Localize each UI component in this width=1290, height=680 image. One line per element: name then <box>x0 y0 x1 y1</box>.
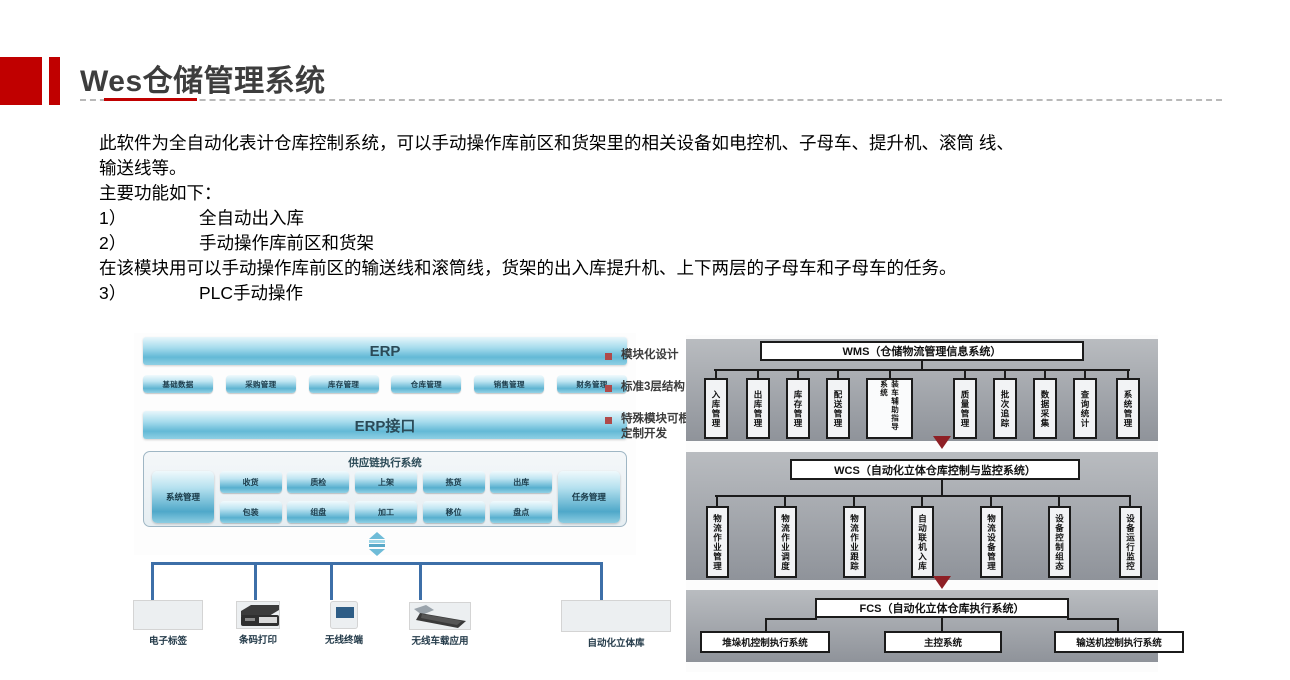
device-item-automated-warehouse: 自动化立体库 <box>546 600 686 649</box>
erp-module-4: 销售管理 <box>474 375 544 393</box>
wms-leaf-5: 质量管理 <box>953 378 977 439</box>
wms-leaf-0: 入库管理 <box>704 378 728 439</box>
feature-item-1: 1）全自动出入库 <box>99 206 1249 231</box>
square-bullet-icon <box>605 353 612 360</box>
wcs-header-drop <box>941 480 943 496</box>
scm-system-management: 系统管理 <box>152 471 214 523</box>
tree-branch-0 <box>151 562 154 600</box>
wms-leaf-3: 配送管理 <box>826 378 850 439</box>
automated-warehouse-thumbnail <box>561 600 671 632</box>
supply-chain-title: 供应链执行系统 <box>144 455 626 470</box>
wms-header-drop <box>921 361 923 370</box>
wms-panel: WMS（仓储物流管理信息系统） 入库管理 出库管理 库存管理 配送管理 装车辅助… <box>686 339 1158 441</box>
scm-cell-inspection: 质检 <box>287 471 349 493</box>
tree-branch-3 <box>419 562 422 600</box>
erp-module-row: 基础数据 采购管理 库存管理 仓库管理 销售管理 财务管理 <box>143 375 627 397</box>
fcs-leaf-0: 堆垛机控制执行系统 <box>700 631 830 653</box>
scm-cell-palletizing: 组盘 <box>287 501 349 523</box>
wms-right-riser <box>1082 341 1084 361</box>
wcs-bus <box>715 495 1131 497</box>
device-item-electronic-tag: 电子标签 <box>116 600 220 647</box>
description-block: 此软件为全自动化表计仓库控制系统，可以手动操作库前区和货架里的相关设备如电控机、… <box>99 131 1249 306</box>
bullet-label-1: 标准3层结构 <box>621 380 685 395</box>
square-bullet-icon <box>605 417 612 424</box>
wcs-leaf-3: 自动联机入库 <box>911 506 934 578</box>
wcs-leaf-4: 物流设备管理 <box>980 506 1003 578</box>
erp-module-0: 基础数据 <box>143 375 213 393</box>
features-intro: 主要功能如下： <box>99 181 1249 206</box>
scm-column-3: 拣货 移位 <box>423 471 485 523</box>
feature-item-3-label: PLC手动操作 <box>199 283 303 303</box>
wms-left-riser <box>760 341 762 361</box>
fcs-panel: FCS（自动化立体仓库执行系统） 堆垛机控制执行系统 主控系统 输送机控制执行系… <box>686 590 1158 662</box>
slide-header: Wes仓储管理系统 <box>0 0 1290 112</box>
wcs-leaf-5: 设备控制组态 <box>1048 506 1071 578</box>
device-label-0: 电子标签 <box>116 633 220 647</box>
scm-column-1: 质检 组盘 <box>287 471 349 523</box>
scm-column-0: 收货 包装 <box>220 471 282 523</box>
page-title: Wes仓储管理系统 <box>80 56 326 100</box>
feature-item-2: 2）手动操作库前区和货架 <box>99 231 1249 256</box>
tree-branch-1 <box>254 562 257 600</box>
accent-block-large <box>0 57 42 105</box>
wms-wcs-fcs-diagram: WMS（仓储物流管理信息系统） 入库管理 出库管理 库存管理 配送管理 装车辅助… <box>686 335 1158 672</box>
wcs-leaf-2: 物流作业跟踪 <box>843 506 866 578</box>
scm-cell-putaway: 上架 <box>355 471 417 493</box>
wcs-leaf-1: 物流作业调度 <box>774 506 797 578</box>
fcs-header: FCS（自动化立体仓库执行系统） <box>815 598 1069 618</box>
feature-item-1-label: 全自动出入库 <box>199 208 304 228</box>
wcs-leaf-6: 设备运行监控 <box>1119 506 1142 578</box>
fcs-left-riser <box>765 618 767 632</box>
paragraph-intro: 此软件为全自动化表计仓库控制系统，可以手动操作库前区和货架里的相关设备如电控机、… <box>99 131 1249 156</box>
feature-item-2-label: 手动操作库前区和货架 <box>199 233 374 253</box>
feature-item-3-number: 3） <box>99 281 199 306</box>
wireless-terminal-thumbnail <box>330 601 358 629</box>
tree-horizontal-line <box>151 562 603 565</box>
feature-item-2-number: 2） <box>99 231 199 256</box>
fcs-leaf-2: 输送机控制执行系统 <box>1054 631 1184 653</box>
up-down-arrow-icon <box>362 531 392 557</box>
wms-leaf-9: 系统管理 <box>1116 378 1140 439</box>
wcs-header: WCS（自动化立体仓库控制与监控系统） <box>790 459 1080 480</box>
scm-cell-processing: 加工 <box>355 501 417 523</box>
device-item-barcode-printer: 条码打印 <box>216 601 300 646</box>
device-label-3: 无线车载应用 <box>385 633 495 647</box>
fcs-leaf-1: 主控系统 <box>884 631 1002 653</box>
title-divider <box>80 99 1222 101</box>
scm-cell-stocktake: 盘点 <box>490 501 552 523</box>
device-label-1: 条码打印 <box>216 632 300 646</box>
wms-leaf-1: 出库管理 <box>746 378 770 439</box>
title-divider-accent <box>104 98 197 101</box>
scm-column-2: 上架 加工 <box>355 471 417 523</box>
fcs-left-arm <box>765 618 817 620</box>
tree-branch-4 <box>600 562 603 600</box>
device-label-2: 无线终端 <box>302 632 386 646</box>
scm-column-4: 出库 盘点 <box>490 471 552 523</box>
tree-branch-2 <box>330 562 333 600</box>
device-label-4: 自动化立体库 <box>546 635 686 649</box>
fcs-right-arm <box>1067 618 1119 620</box>
erp-layer-bar: ERP <box>143 337 627 365</box>
wms-leaf-8: 查询统计 <box>1073 378 1097 439</box>
supply-chain-execution-panel: 供应链执行系统 系统管理 收货 包装 质检 组盘 上架 加工 拣货 移位 出库 … <box>143 451 627 527</box>
wms-leaf-7: 数据采集 <box>1033 378 1057 439</box>
wms-leaf-6: 批次追踪 <box>993 378 1017 439</box>
down-arrow-icon-wcs-to-fcs <box>933 576 951 589</box>
wms-header: WMS（仓储物流管理信息系统） <box>760 341 1084 361</box>
feature-item-1-number: 1） <box>99 206 199 231</box>
scm-cell-outbound: 出库 <box>490 471 552 493</box>
supply-chain-grid: 系统管理 收货 包装 质检 组盘 上架 加工 拣货 移位 出库 盘点 任务管理 <box>152 471 620 523</box>
bullet-label-0: 模块化设计 <box>621 348 679 363</box>
feature-item-2-note: 在该模块用可以手动操作库前区的输送线和滚筒线，货架的出入库提升机、上下两层的子母… <box>99 256 1249 281</box>
paragraph-line-1: 此软件为全自动化表计仓库控制系统，可以手动操作库前区和货架里的相关设备如电控机、… <box>99 133 1014 153</box>
square-bullet-icon <box>605 385 612 392</box>
barcode-printer-thumbnail <box>236 601 280 629</box>
device-item-wireless-terminal: 无线终端 <box>302 601 386 646</box>
accent-block-small <box>49 57 60 105</box>
electronic-tag-thumbnail <box>133 600 203 630</box>
erp-architecture-diagram: ERP 基础数据 采购管理 库存管理 仓库管理 销售管理 财务管理 ERP接口 … <box>134 333 636 555</box>
wms-leaf-4: 装车辅助指导系统 <box>866 378 913 439</box>
scm-cell-relocation: 移位 <box>423 501 485 523</box>
vehicle-mounted-thumbnail <box>409 602 471 630</box>
down-arrow-icon-wms-to-wcs <box>933 436 951 449</box>
scm-cell-receiving: 收货 <box>220 471 282 493</box>
wms-leaf-2: 库存管理 <box>786 378 810 439</box>
device-item-vehicle-mounted: 无线车载应用 <box>385 602 495 647</box>
erp-module-1: 采购管理 <box>226 375 296 393</box>
fcs-center-drop <box>941 618 943 632</box>
paragraph-line-2: 输送线等。 <box>99 156 1249 181</box>
erp-module-3: 仓库管理 <box>391 375 461 393</box>
erp-interface-bar: ERP接口 <box>143 411 627 439</box>
scm-cell-picking: 拣货 <box>423 471 485 493</box>
feature-item-3: 3）PLC手动操作 <box>99 281 1249 306</box>
device-connection-tree: 电子标签 条码打印 无线终端 <box>134 556 636 656</box>
scm-task-management: 任务管理 <box>558 471 620 523</box>
fcs-right-riser <box>1117 618 1119 632</box>
scm-cell-packing: 包装 <box>220 501 282 523</box>
erp-module-2: 库存管理 <box>309 375 379 393</box>
wcs-leaf-0: 物流作业管理 <box>706 506 729 578</box>
device-row: 电子标签 条码打印 无线终端 <box>134 600 636 656</box>
wcs-panel: WCS（自动化立体仓库控制与监控系统） 物流作业管理 物流作业调度 物流作业跟踪… <box>686 452 1158 580</box>
